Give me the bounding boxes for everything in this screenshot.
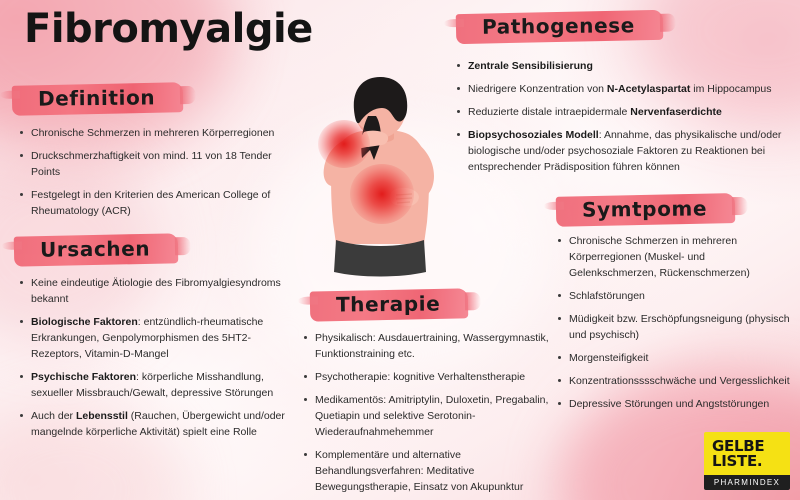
logo-subtitle: PHARMINDEX [704,475,790,490]
list-item-text: Medikamentös: Amitriptylin, Duloxetin, P… [315,394,548,438]
list-item: Niedrigere Konzentration von N-Acetylasp… [455,81,795,97]
woman-back-pain-illustration [300,72,460,287]
list-item-text: Komplementäre und alternative Behandlung… [315,449,523,493]
list-item-text: Psychotherapie: kognitive Verhaltensther… [315,371,525,383]
list-item-text: Druckschmerzhaftigkeit von mind. 11 von … [31,150,272,178]
list-item-text: Chronische Schmerzen in mehreren Körperr… [569,235,750,279]
list-item-text: Psychische Faktoren: körperliche Misshan… [31,371,273,399]
list-item: Chronische Schmerzen in mehreren Körperr… [18,125,290,141]
list-item: Müdigkeit bzw. Erschöpfungsneigung (phys… [556,311,794,343]
list-item: Biopsychosoziales Modell: Annahme, das p… [455,127,795,175]
section-heading-symptome: Symtpome [566,191,722,228]
list-item-text: Biologische Faktoren: entzündlich-rheuma… [31,316,263,360]
logo-line-2: LISTE. [712,454,782,469]
list-item: Reduzierte distale intraepidermale Nerve… [455,104,795,120]
gelbe-liste-logo[interactable]: GELBE LISTE. PHARMINDEX [704,432,790,490]
list-item: Druckschmerzhaftigkeit von mind. 11 von … [18,148,290,180]
list-item-text: Müdigkeit bzw. Erschöpfungsneigung (phys… [569,313,790,341]
definition-heading-text: Definition [22,81,170,117]
list-item: Chronische Schmerzen in mehreren Körperr… [556,233,794,281]
list-item-text: Physikalisch: Ausdauertraining, Wassergy… [315,332,549,360]
list-item-text: Zentrale Sensibilisierung [468,60,593,72]
page-title: Fibromyalgie [24,6,313,52]
list-item-text: Auch der Lebensstil (Rauchen, Übergewich… [31,410,285,438]
list-item-text: Niedrigere Konzentration von N-Acetylasp… [468,83,772,95]
logo-yellow-block: GELBE LISTE. [704,432,790,475]
list-item: Auch der Lebensstil (Rauchen, Übergewich… [18,408,290,440]
definition-list: Chronische Schmerzen in mehreren Körperr… [18,125,290,226]
symptome-heading-text: Symtpome [566,192,721,228]
infographic-canvas: Fibromyalgie Definition Chronische Schme… [0,0,800,500]
list-item-text: Reduzierte distale intraepidermale Nerve… [468,106,722,118]
section-heading-therapie: Therapie [320,287,455,324]
list-item: Zentrale Sensibilisierung [455,58,795,74]
list-item-text: Chronische Schmerzen in mehreren Körperr… [31,127,274,139]
list-item-text: Keine eindeutige Ätiologie des Fibromyal… [31,277,281,305]
list-item: Keine eindeutige Ätiologie des Fibromyal… [18,275,290,307]
list-item: Psychotherapie: kognitive Verhaltensther… [302,369,557,385]
list-item-text: Schlafstörungen [569,290,645,302]
list-item: Komplementäre und alternative Behandlung… [302,447,557,495]
therapie-list: Physikalisch: Ausdauertraining, Wassergy… [302,330,557,500]
pathogenese-list: Zentrale Sensibilisierung Niedrigere Kon… [455,58,795,182]
list-item-text: Morgensteifigkeit [569,352,648,364]
list-item: Konzentrationsssschwäche und Vergesslich… [556,373,794,389]
symptome-list: Chronische Schmerzen in mehreren Körperr… [556,233,794,419]
list-item: Physikalisch: Ausdauertraining, Wassergy… [302,330,557,362]
section-heading-ursachen: Ursachen [24,232,165,269]
list-item: Psychische Faktoren: körperliche Misshan… [18,369,290,401]
ursachen-heading-text: Ursachen [24,232,165,267]
pain-point-lower-back [350,164,414,224]
list-item-text: Biopsychosoziales Modell: Annahme, das p… [468,129,781,173]
list-item: Depressive Störungen und Angststörungen [556,396,794,412]
list-item: Schlafstörungen [556,288,794,304]
list-item-text: Konzentrationsssschwäche und Vergesslich… [569,375,790,387]
pathogenese-heading-text: Pathogenese [466,9,649,45]
list-item: Biologische Faktoren: entzündlich-rheuma… [18,314,290,362]
list-item: Morgensteifigkeit [556,350,794,366]
list-item: Festgelegt in den Kriterien des American… [18,187,290,219]
section-heading-pathogenese: Pathogenese [466,8,650,46]
ursachen-list: Keine eindeutige Ätiologie des Fibromyal… [18,275,290,447]
therapie-heading-text: Therapie [320,287,455,322]
list-item-text: Festgelegt in den Kriterien des American… [31,189,270,217]
section-heading-definition: Definition [22,80,170,117]
list-item-text: Depressive Störungen und Angststörungen [569,398,769,410]
list-item: Medikamentös: Amitriptylin, Duloxetin, P… [302,392,557,440]
pain-point-neck-shoulder [318,120,370,168]
